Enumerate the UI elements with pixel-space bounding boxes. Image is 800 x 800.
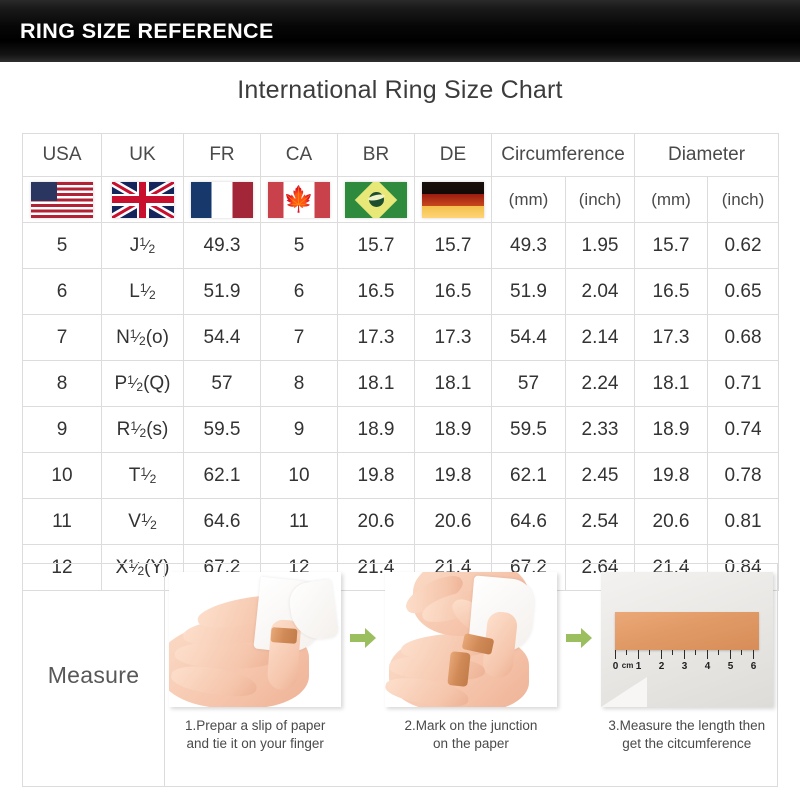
cell-diameter-mm: 15.7: [635, 223, 708, 269]
ruler-mark: 0: [613, 661, 619, 672]
table-row: 8P1⁄2(Q)57818.118.1572.2418.10.71: [23, 361, 779, 407]
cell-diameter-mm: 18.9: [635, 407, 708, 453]
unit-header-diameter-inch: (inch): [708, 177, 779, 223]
cell-uk: N1⁄2(o): [102, 315, 184, 361]
cell-diameter-mm: 18.1: [635, 361, 708, 407]
cell-uk: J1⁄2: [102, 223, 184, 269]
measure-label-cell: Measure: [23, 564, 165, 787]
cell-de: 15.7: [415, 223, 492, 269]
cell-fr: 57: [184, 361, 261, 407]
table-body: 5J1⁄249.3515.715.749.31.9515.70.626L1⁄25…: [23, 223, 779, 591]
cell-usa: 5: [23, 223, 102, 269]
column-header-fr: FR: [184, 134, 261, 177]
unit-header-circumference-inch: (inch): [566, 177, 635, 223]
cell-circumference-inch: 2.45: [566, 453, 635, 499]
cell-diameter-inch: 0.81: [708, 499, 779, 545]
measure-steps-cell: 1.Prepar a slip of paper and tie it on y…: [165, 564, 778, 787]
table-row: 6L1⁄251.9616.516.551.92.0416.50.65: [23, 269, 779, 315]
flag-cell-de: [415, 177, 492, 223]
cell-diameter-mm: 20.6: [635, 499, 708, 545]
unit-header-diameter-mm: (mm): [635, 177, 708, 223]
cell-fr: 49.3: [184, 223, 261, 269]
cell-diameter-mm: 19.8: [635, 453, 708, 499]
cell-fr: 62.1: [184, 453, 261, 499]
ruler-mark: 5: [728, 661, 734, 672]
measure-steps: 1.Prepar a slip of paper and tie it on y…: [165, 564, 777, 786]
cell-de: 18.1: [415, 361, 492, 407]
cell-circumference-inch: 2.14: [566, 315, 635, 361]
cell-ca: 5: [261, 223, 338, 269]
cell-diameter-inch: 0.74: [708, 407, 779, 453]
column-header-ca: CA: [261, 134, 338, 177]
cell-circumference-mm: 49.3: [492, 223, 566, 269]
cell-br: 18.1: [338, 361, 415, 407]
cell-usa: 11: [23, 499, 102, 545]
table-flag-row: 🍁 (mm) (inch) (mm) (inch): [23, 177, 779, 223]
ruler-mark: 2: [659, 661, 665, 672]
banner-title: RING SIZE REFERENCE: [20, 19, 274, 44]
cell-diameter-mm: 16.5: [635, 269, 708, 315]
flag-cell-usa: [23, 177, 102, 223]
cell-circumference-inch: 2.24: [566, 361, 635, 407]
cell-br: 19.8: [338, 453, 415, 499]
cell-uk: T1⁄2: [102, 453, 184, 499]
cell-uk: L1⁄2: [102, 269, 184, 315]
cell-uk: V1⁄2: [102, 499, 184, 545]
measure-step-3: 0123456cm 3.Measure the length then get …: [599, 572, 774, 753]
measure-step-1: 1.Prepar a slip of paper and tie it on y…: [168, 572, 343, 753]
cell-diameter-inch: 0.78: [708, 453, 779, 499]
table-row: 9R1⁄2(s)59.5918.918.959.52.3318.90.74: [23, 407, 779, 453]
flag-usa-icon: [31, 182, 93, 218]
column-header-de: DE: [415, 134, 492, 177]
ruler-mark: 3: [682, 661, 688, 672]
cell-ca: 8: [261, 361, 338, 407]
cell-usa: 6: [23, 269, 102, 315]
cell-br: 18.9: [338, 407, 415, 453]
cell-de: 16.5: [415, 269, 492, 315]
cell-usa: 8: [23, 361, 102, 407]
cell-uk: P1⁄2(Q): [102, 361, 184, 407]
cell-ca: 10: [261, 453, 338, 499]
column-header-usa: USA: [23, 134, 102, 177]
cell-fr: 64.6: [184, 499, 261, 545]
cell-usa: 9: [23, 407, 102, 453]
cell-circumference-mm: 57: [492, 361, 566, 407]
cell-circumference-inch: 2.04: [566, 269, 635, 315]
ruler-mark: 1: [636, 661, 642, 672]
table-row: 5J1⁄249.3515.715.749.31.9515.70.62: [23, 223, 779, 269]
table-header-row: USA UK FR CA BR DE Circumference Diamete…: [23, 134, 779, 177]
flag-cell-ca: 🍁: [261, 177, 338, 223]
unit-header-circumference-mm: (mm): [492, 177, 566, 223]
cell-diameter-mm: 17.3: [635, 315, 708, 361]
step-3-caption: 3.Measure the length then get the citcum…: [608, 717, 765, 753]
step-1-image: [169, 572, 341, 707]
table-row: 10T1⁄262.11019.819.862.12.4519.80.78: [23, 453, 779, 499]
measure-label: Measure: [23, 662, 164, 689]
column-header-br: BR: [338, 134, 415, 177]
cell-diameter-inch: 0.65: [708, 269, 779, 315]
cell-diameter-inch: 0.62: [708, 223, 779, 269]
cell-ca: 9: [261, 407, 338, 453]
measure-step-2: 2.Mark on the junction on the paper: [383, 572, 558, 753]
maple-leaf-icon: 🍁: [268, 187, 330, 212]
cell-de: 20.6: [415, 499, 492, 545]
cell-circumference-inch: 2.33: [566, 407, 635, 453]
flag-cell-br: [338, 177, 415, 223]
table-row: 7N1⁄2(o)54.4717.317.354.42.1417.30.68: [23, 315, 779, 361]
ruler-unit-label: cm: [622, 661, 634, 670]
column-header-uk: UK: [102, 134, 184, 177]
cell-de: 17.3: [415, 315, 492, 361]
cell-ca: 6: [261, 269, 338, 315]
page-title: International Ring Size Chart: [0, 76, 800, 105]
cell-circumference-mm: 51.9: [492, 269, 566, 315]
cell-circumference-mm: 54.4: [492, 315, 566, 361]
arrow-right-icon-2: [564, 527, 594, 749]
cell-circumference-mm: 62.1: [492, 453, 566, 499]
column-header-diameter: Diameter: [635, 134, 779, 177]
cell-br: 16.5: [338, 269, 415, 315]
ruler-mark: 4: [705, 661, 711, 672]
table-row: 11V1⁄264.61120.620.664.62.5420.60.81: [23, 499, 779, 545]
arrow-right-icon-1: [348, 527, 378, 749]
cell-fr: 51.9: [184, 269, 261, 315]
cell-fr: 54.4: [184, 315, 261, 361]
flag-cell-uk: [102, 177, 184, 223]
flag-fr-icon: [191, 182, 253, 218]
flag-cell-fr: [184, 177, 261, 223]
cell-de: 19.8: [415, 453, 492, 499]
cell-circumference-inch: 1.95: [566, 223, 635, 269]
ruler-numbers: 0123456cm: [611, 661, 767, 675]
cell-usa: 7: [23, 315, 102, 361]
cell-br: 17.3: [338, 315, 415, 361]
measure-section: Measure: [22, 563, 778, 787]
column-header-circumference: Circumference: [492, 134, 635, 177]
flag-de-icon: [422, 182, 484, 218]
cell-diameter-inch: 0.68: [708, 315, 779, 361]
step-2-caption: 2.Mark on the junction on the paper: [405, 717, 538, 753]
step-1-caption: 1.Prepar a slip of paper and tie it on y…: [185, 717, 325, 753]
ring-size-table: USA UK FR CA BR DE Circumference Diamete…: [22, 133, 779, 591]
step-2-image: [385, 572, 557, 707]
top-banner: RING SIZE REFERENCE: [0, 0, 800, 62]
flag-br-icon: [345, 182, 407, 218]
cell-diameter-inch: 0.71: [708, 361, 779, 407]
cell-ca: 11: [261, 499, 338, 545]
cell-de: 18.9: [415, 407, 492, 453]
cell-ca: 7: [261, 315, 338, 361]
ruler-mark: 6: [751, 661, 757, 672]
flag-uk-icon: [112, 182, 174, 218]
flag-ca-icon: 🍁: [268, 182, 330, 218]
cell-uk: R1⁄2(s): [102, 407, 184, 453]
cell-circumference-mm: 59.5: [492, 407, 566, 453]
cell-br: 15.7: [338, 223, 415, 269]
cell-usa: 10: [23, 453, 102, 499]
cell-fr: 59.5: [184, 407, 261, 453]
cell-circumference-mm: 64.6: [492, 499, 566, 545]
step-3-image: 0123456cm: [601, 572, 773, 707]
